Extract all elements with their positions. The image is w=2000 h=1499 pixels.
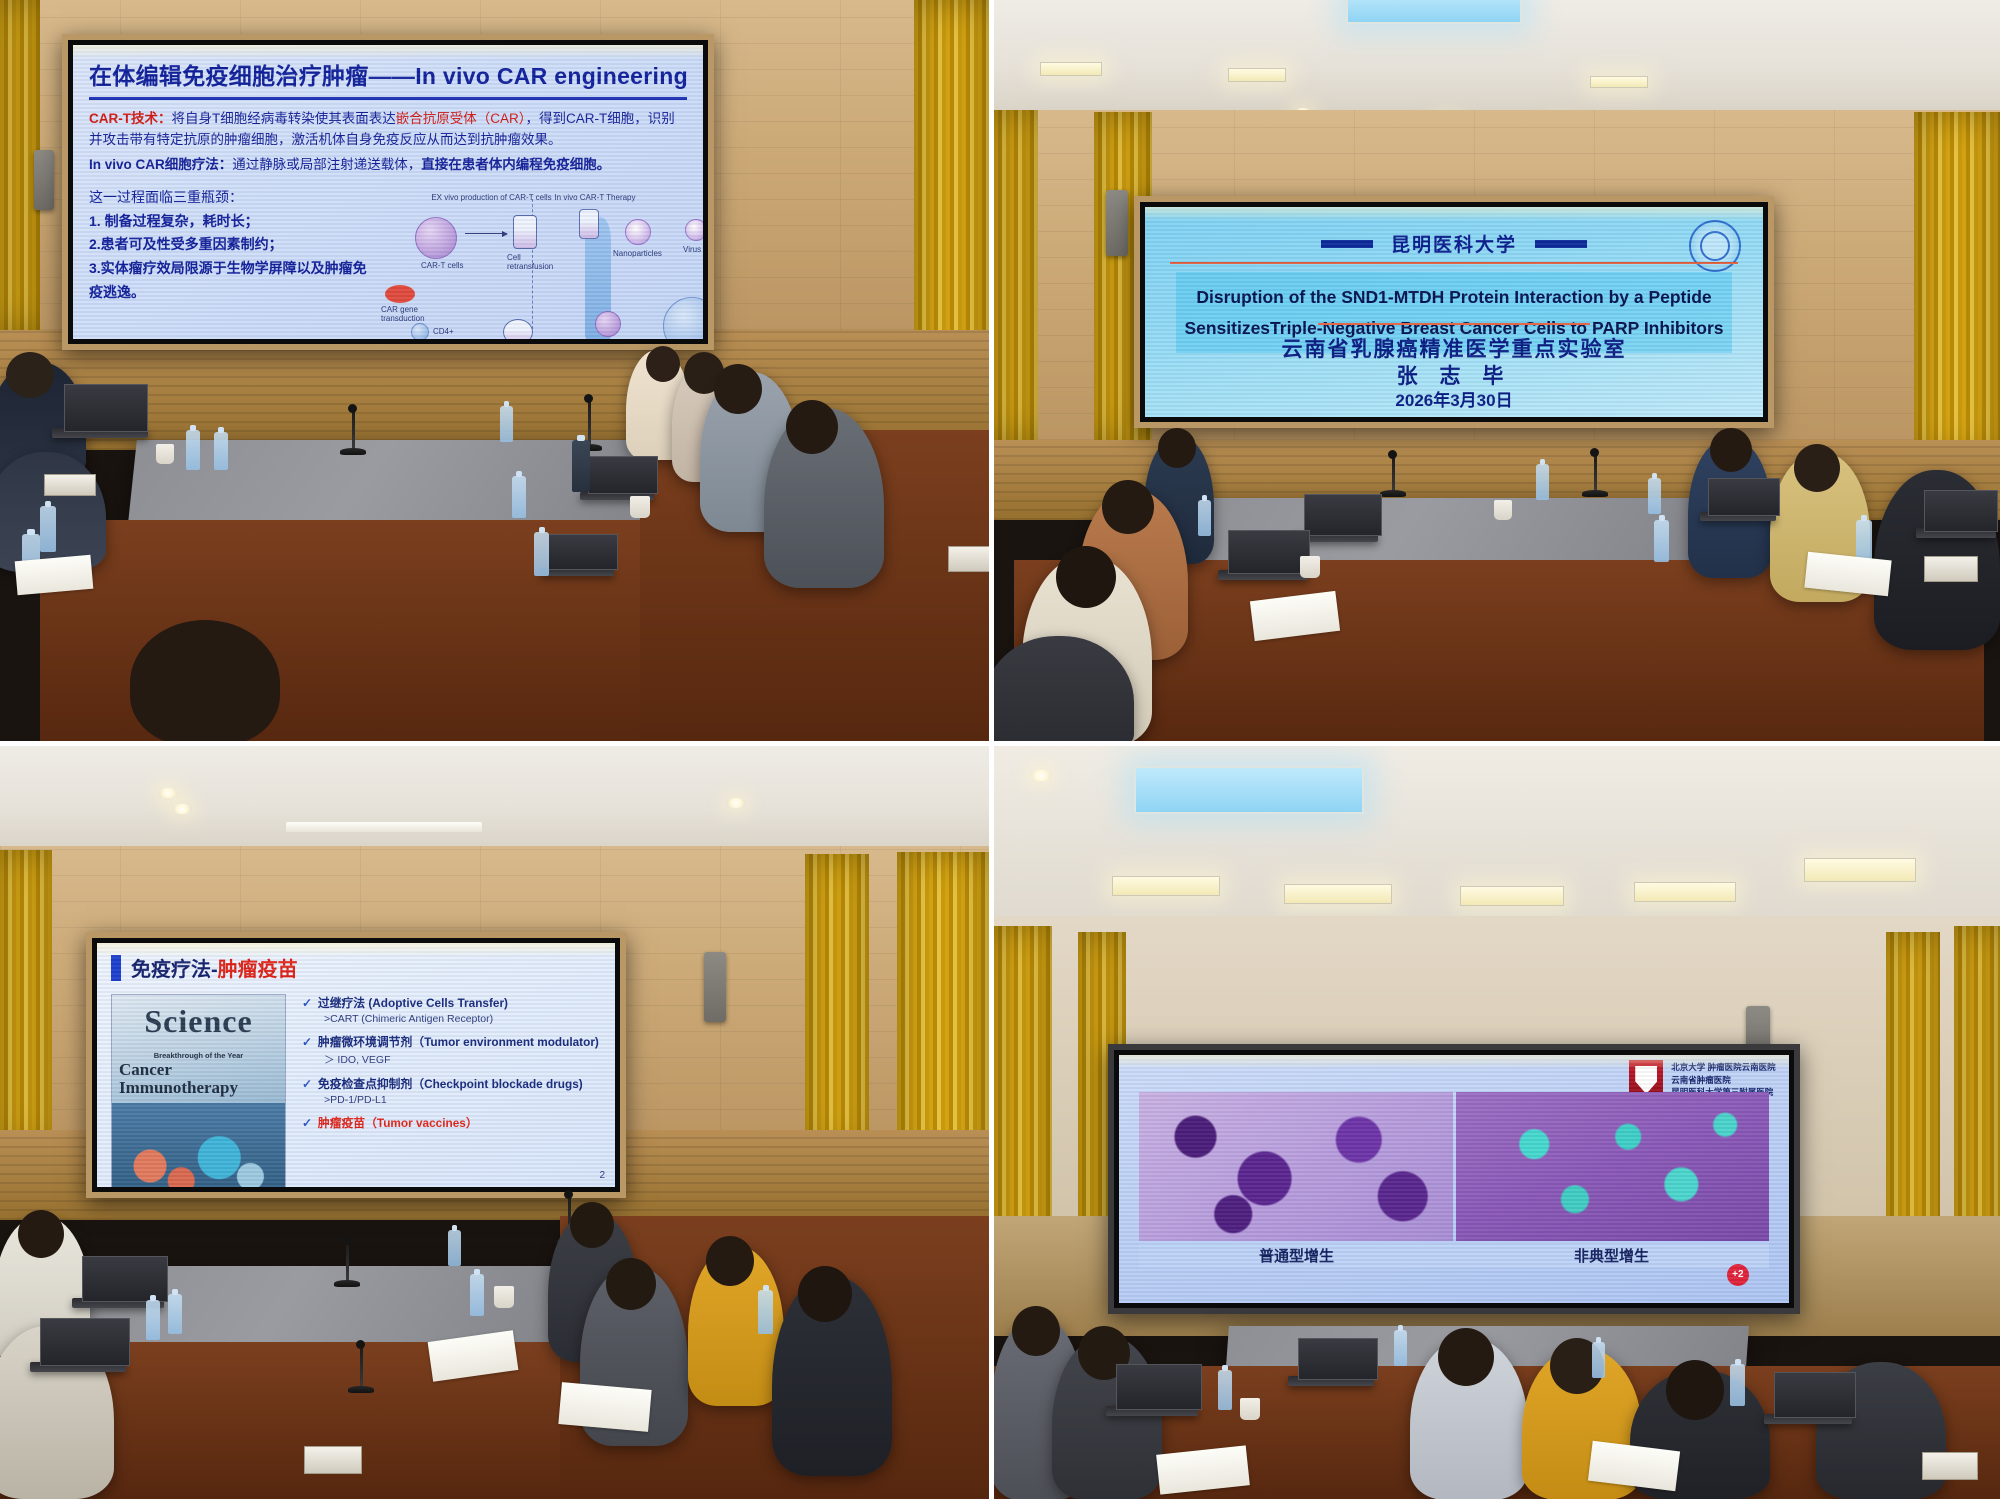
photo-collage: 在体编辑免疫细胞治疗肿瘤——In vivo CAR engineering CA… — [0, 0, 2000, 1499]
name-plate — [44, 474, 96, 496]
diagram-iv-bag — [579, 209, 599, 239]
panel-top-right: 昆明医科大学 Disruption of the SND1-MTDH Prote… — [994, 0, 2000, 746]
paper-cup — [630, 496, 650, 518]
diagram-gene-editing — [663, 297, 703, 339]
slide3-title-bar: 免疫疗法-肿瘤疫苗 — [111, 953, 601, 982]
diagram-t-cell — [411, 323, 429, 339]
diagram-caption-left: EX vivo production of CAR-T cells — [431, 193, 551, 202]
attendee-head — [570, 1202, 614, 1248]
science-headline-line-1: Cancer — [119, 1061, 238, 1079]
water-bottle — [40, 506, 56, 552]
water-bottle — [758, 1290, 773, 1334]
bullet-sub-text: >CART (Chimeric Antigen Receptor) — [324, 1013, 601, 1025]
slide3-title: 免疫疗法-肿瘤疫苗 — [131, 953, 298, 982]
attendee-head — [1438, 1328, 1494, 1386]
projection-screen: 在体编辑免疫细胞治疗肿瘤——In vivo CAR engineering CA… — [73, 45, 703, 339]
diagram-cart-cell — [415, 217, 457, 259]
water-bottle — [1730, 1364, 1745, 1406]
laptop-screen — [1116, 1364, 1202, 1410]
water-bottle — [500, 406, 513, 442]
curtain-left — [994, 926, 1052, 1266]
diagram-label: CAR-T cells — [421, 261, 464, 270]
slide2-header: 昆明医科大学 — [1145, 230, 1763, 257]
ceiling-troffer — [1112, 876, 1220, 896]
paper-sheet — [15, 555, 94, 595]
science-magazine-cover: Science Breakthrough of the Year Cancer … — [111, 994, 286, 1187]
microphone-head — [1388, 450, 1397, 459]
slide-title-page: 昆明医科大学 Disruption of the SND1-MTDH Prote… — [1145, 207, 1763, 417]
water-bottle — [1654, 520, 1669, 562]
diagram-nanoparticle — [625, 219, 651, 245]
bullet-item-highlighted: ✓肿瘤疫苗（Tumor vaccines） — [302, 1114, 601, 1131]
annotation-badge: +2 — [1727, 1264, 1749, 1286]
ceiling-light-panel — [1134, 766, 1364, 814]
slide1-list-item: 1. 制备过程复杂，耗时长； — [89, 210, 369, 234]
water-bottle — [1394, 1330, 1407, 1366]
curtain-mid-right — [805, 854, 869, 1154]
water-bottle — [1218, 1370, 1232, 1410]
microphone-base — [340, 448, 366, 455]
ceiling-troffer — [1040, 62, 1102, 76]
attendee-head — [798, 1266, 852, 1322]
screen-glare — [97, 943, 615, 957]
water-bottle — [168, 1294, 182, 1334]
slide2-title-line-1: Disruption of the SND1-MTDH Protein Inte… — [1184, 282, 1724, 313]
ceiling-troffer — [1804, 858, 1916, 882]
microphone-stem — [588, 400, 591, 446]
slide1-p2-b: 直接在患者体内编程免疫细胞。 — [421, 157, 610, 172]
wall-speaker — [704, 952, 726, 1022]
paper-cup — [1300, 556, 1320, 578]
attendee-head — [18, 1210, 64, 1258]
curtain-right — [897, 852, 989, 1172]
microphone-stem — [346, 1242, 349, 1282]
slide1-paragraph-1: CAR-T技术：将自身T细胞经病毒转染使其表面表达嵌合抗原受体（CAR），得到C… — [89, 109, 687, 151]
panel-top-left: 在体编辑免疫细胞治疗肿瘤——In vivo CAR engineering CA… — [0, 0, 994, 746]
projection-screen: 北京大学 肿瘤医院云南医院 云南省肿瘤医院 昆明医科大学第三附属医院 普通型增生… — [1119, 1055, 1789, 1303]
microphone-head — [348, 404, 357, 413]
microphone-stem — [1392, 456, 1395, 492]
screen-glare — [1119, 1055, 1789, 1069]
paper-sheet — [558, 1382, 651, 1432]
panel-bottom-left: 免疫疗法-肿瘤疫苗 Science Breakthrough of the Ye… — [0, 746, 994, 1499]
check-icon: ✓ — [302, 996, 312, 1010]
slide1-p2-a: 通过静脉或局部注射递送载体， — [232, 157, 421, 172]
attendee-head-foreground — [130, 620, 280, 746]
laptop-screen — [1304, 494, 1382, 536]
slide2-lab-name: 云南省乳腺癌精准医学重点实验室 — [1145, 333, 1763, 363]
slide2-rule-mid — [1318, 323, 1590, 325]
laptop-screen — [1708, 478, 1780, 516]
diagram-label: Nanoparticles — [613, 249, 662, 258]
ceiling-light-panel — [1346, 0, 1522, 24]
diagram-arrow — [465, 233, 507, 234]
ceiling-troffer — [1284, 884, 1392, 904]
attendee-head — [646, 346, 680, 382]
water-bottle — [470, 1274, 484, 1316]
name-plate — [304, 1446, 362, 1474]
slide-tumor-vaccine: 免疫疗法-肿瘤疫苗 Science Breakthrough of the Ye… — [97, 943, 615, 1187]
water-bottle — [146, 1300, 160, 1340]
laptop-screen — [40, 1318, 130, 1366]
slide1-list-item: 2.患者可及性受多重因素制约； — [89, 233, 369, 257]
attendee-head — [1012, 1306, 1060, 1356]
laptop-screen — [1924, 490, 1998, 532]
laptop-screen — [1774, 1372, 1856, 1418]
science-headline-line-2: Immunotherapy — [119, 1079, 238, 1097]
slide1-paragraph-2: In vivo CAR细胞疗法：通过静脉或局部注射递送载体，直接在患者体内编程免… — [89, 155, 687, 176]
diagram-red-cluster — [385, 285, 415, 303]
bullet-main-text: 肿瘤微环境调节剂（Tumor environment modulator) — [318, 1035, 599, 1049]
microphone-head — [356, 1340, 365, 1349]
diagram-vial — [513, 215, 537, 249]
diagram-label: CAR gene transduction — [381, 305, 425, 323]
microphone-stem — [360, 1346, 363, 1388]
water-bottle — [512, 476, 526, 518]
microphone-base — [1582, 490, 1608, 497]
laptop-screen — [1298, 1338, 1378, 1380]
wall-speaker — [34, 150, 54, 210]
slide1-p1-red: 嵌合抗原受体（CAR） — [396, 111, 526, 126]
laptop-screen — [588, 456, 658, 494]
attendee-head — [6, 352, 54, 398]
water-bottle — [1536, 464, 1549, 500]
slide3-title-accent: 肿瘤疫苗 — [218, 959, 298, 981]
attendee-head — [706, 1236, 754, 1286]
microphone-head — [342, 1236, 351, 1245]
curtain-left — [994, 110, 1038, 440]
laptop-screen — [548, 534, 618, 570]
slide1-p1-lead: CAR-T技术： — [89, 111, 172, 126]
histology-label-right: 非典型增生 — [1454, 1245, 1769, 1266]
attendee-head — [1794, 444, 1840, 492]
slide3-bullet-list: ✓过继疗法 (Adoptive Cells Transfer) >CART (C… — [302, 994, 601, 1187]
bullet-sub-text: >PD-1/PD-L1 — [324, 1094, 601, 1106]
bullet-main-text: 免疫检查点抑制剂（Checkpoint blockade drugs) — [318, 1077, 583, 1091]
science-headline: Cancer Immunotherapy — [119, 1061, 238, 1097]
microphone-stem — [352, 410, 355, 450]
microphone-base — [334, 1280, 360, 1287]
diagram-virus — [685, 219, 703, 241]
projection-screen-frame: 北京大学 肿瘤医院云南医院 云南省肿瘤医院 昆明医科大学第三附属医院 普通型增生… — [1108, 1044, 1800, 1314]
logo-line-2: 云南省肿瘤医院 — [1671, 1074, 1775, 1087]
projection-screen: 免疫疗法-肿瘤疫苗 Science Breakthrough of the Ye… — [97, 943, 615, 1187]
diagram-pbmc — [503, 319, 533, 339]
attendee-head — [606, 1258, 656, 1310]
slide1-bottleneck-list: 这一过程面临三重瓶颈： 1. 制备过程复杂，耗时长； 2.患者可及性受多重因素制… — [89, 186, 369, 305]
slide1-p1-a: 将自身T细胞经病毒转染使其表面表达 — [172, 111, 396, 126]
attendee-head — [786, 400, 838, 454]
bullet-main-text: 过继疗法 (Adoptive Cells Transfer) — [318, 996, 508, 1010]
check-icon: ✓ — [302, 1035, 312, 1049]
slide3-body: Science Breakthrough of the Year Cancer … — [111, 994, 601, 1187]
paper-cup — [1240, 1398, 1260, 1420]
wall-speaker — [1106, 190, 1128, 256]
ceiling-troffer — [1228, 68, 1286, 82]
microphone-base — [1380, 490, 1406, 497]
paper-cup — [156, 444, 174, 464]
histology-labels: 普通型增生 非典型增生 — [1139, 1243, 1769, 1268]
paper-cup — [1494, 500, 1512, 520]
slide-histology: 北京大学 肿瘤医院云南医院 云南省肿瘤医院 昆明医科大学第三附属医院 普通型增生… — [1119, 1055, 1789, 1303]
slide1-rule — [89, 97, 687, 100]
ceiling-vent — [286, 822, 482, 832]
bullet-item: ✓肿瘤微环境调节剂（Tumor environment modulator) — [302, 1033, 601, 1050]
slide1-diagram: EX vivo production of CAR-T cells In viv… — [373, 193, 697, 333]
histology-image-usual-hyperplasia — [1139, 1092, 1452, 1241]
microphone-stem — [1594, 454, 1597, 492]
downlight — [726, 798, 746, 808]
attendee-head — [714, 364, 762, 414]
diagram-in-vivo-cart — [595, 311, 621, 337]
downlight — [1030, 770, 1052, 781]
slide2-bar-right — [1535, 240, 1587, 248]
science-kicker: Breakthrough of the Year — [112, 1051, 285, 1060]
bullet-sub-text: ＞ IDO, VEGF — [324, 1052, 601, 1067]
screen-glare — [73, 45, 703, 59]
ceiling-troffer — [1634, 882, 1736, 902]
ceiling — [0, 746, 989, 854]
projection-screen-frame: 免疫疗法-肿瘤疫苗 Science Breakthrough of the Ye… — [86, 932, 626, 1198]
university-emblem-icon — [1689, 220, 1741, 272]
water-bottle — [534, 532, 549, 576]
attendee-head — [1710, 428, 1752, 472]
slide1-list-lead: 这一过程面临三重瓶颈： — [89, 186, 369, 210]
slide3-page-number: 2 — [599, 1170, 605, 1181]
bullet-item: ✓过继疗法 (Adoptive Cells Transfer) — [302, 994, 601, 1011]
curtain-left — [0, 850, 52, 1150]
diagram-label: Virus — [683, 245, 701, 254]
curtain-right — [1914, 112, 2000, 458]
water-bottle-dark — [572, 440, 590, 492]
diagram-caption-right: In vivo CAR-T Therapy — [554, 193, 635, 202]
bullet-main-text: 肿瘤疫苗（Tumor vaccines） — [318, 1116, 478, 1130]
slide2-date: 2026年3月30日 — [1145, 386, 1763, 411]
name-plate — [1922, 1452, 1978, 1480]
ceiling-troffer — [1590, 76, 1648, 88]
attendee-head — [1666, 1360, 1724, 1420]
water-bottle — [1198, 500, 1211, 536]
ceiling-troffer — [1460, 886, 1564, 906]
slide3-title-accent-bar — [111, 955, 121, 981]
bullet-item: ✓免疫检查点抑制剂（Checkpoint blockade drugs) — [302, 1075, 601, 1092]
slide3-title-main: 免疫疗法- — [131, 959, 218, 981]
projection-screen: 昆明医科大学 Disruption of the SND1-MTDH Prote… — [1145, 207, 1763, 417]
histology-label-left: 普通型增生 — [1139, 1245, 1454, 1266]
histology-image-atypical-hyperplasia — [1456, 1092, 1769, 1241]
attendee-head — [1056, 546, 1116, 608]
downlight — [158, 788, 178, 798]
slide1-list-item: 3.实体瘤疗效局限源于生物学屏障以及肿瘤免疫逃逸。 — [89, 257, 369, 305]
water-bottle — [1592, 1342, 1605, 1378]
water-bottle — [1648, 478, 1661, 514]
laptop-screen — [1228, 530, 1310, 574]
microphone-base — [348, 1386, 374, 1393]
diagram-label: CD4+ — [433, 327, 454, 336]
histology-image-pair — [1139, 1092, 1769, 1241]
downlight — [172, 804, 192, 814]
slide2-university: 昆明医科大学 — [1391, 230, 1517, 257]
slide1-title: 在体编辑免疫细胞治疗肿瘤——In vivo CAR engineering — [89, 57, 687, 91]
microphone-head — [1590, 448, 1599, 457]
slide2-rule-top — [1170, 262, 1739, 264]
paper-cup — [494, 1286, 514, 1308]
slide2-bar-left — [1321, 240, 1373, 248]
panel-bottom-right: 北京大学 肿瘤医院云南医院 云南省肿瘤医院 昆明医科大学第三附属医院 普通型增生… — [994, 746, 2000, 1499]
check-icon: ✓ — [302, 1077, 312, 1091]
name-plate — [948, 546, 992, 572]
water-bottle — [214, 432, 228, 470]
check-icon: ✓ — [302, 1116, 312, 1130]
diagram-label: Cell retransfusion — [507, 253, 547, 271]
screen-glare — [1145, 207, 1763, 221]
slide1-p2-lead: In vivo CAR细胞疗法： — [89, 157, 232, 172]
water-bottle — [448, 1230, 461, 1266]
microphone-head — [584, 394, 593, 403]
science-cover-art — [112, 1103, 285, 1187]
projection-screen-frame: 在体编辑免疫细胞治疗肿瘤——In vivo CAR engineering CA… — [62, 34, 714, 350]
science-masthead: Science — [112, 1003, 285, 1040]
slide-in-vivo-car: 在体编辑免疫细胞治疗肿瘤——In vivo CAR engineering CA… — [73, 45, 703, 339]
laptop-screen — [64, 384, 148, 432]
name-plate — [1924, 556, 1978, 582]
attendee-head — [1102, 480, 1154, 534]
microphone-head — [564, 1190, 573, 1199]
projection-screen-frame: 昆明医科大学 Disruption of the SND1-MTDH Prote… — [1134, 196, 1774, 428]
attendee-head — [1158, 428, 1196, 468]
water-bottle — [186, 430, 200, 470]
